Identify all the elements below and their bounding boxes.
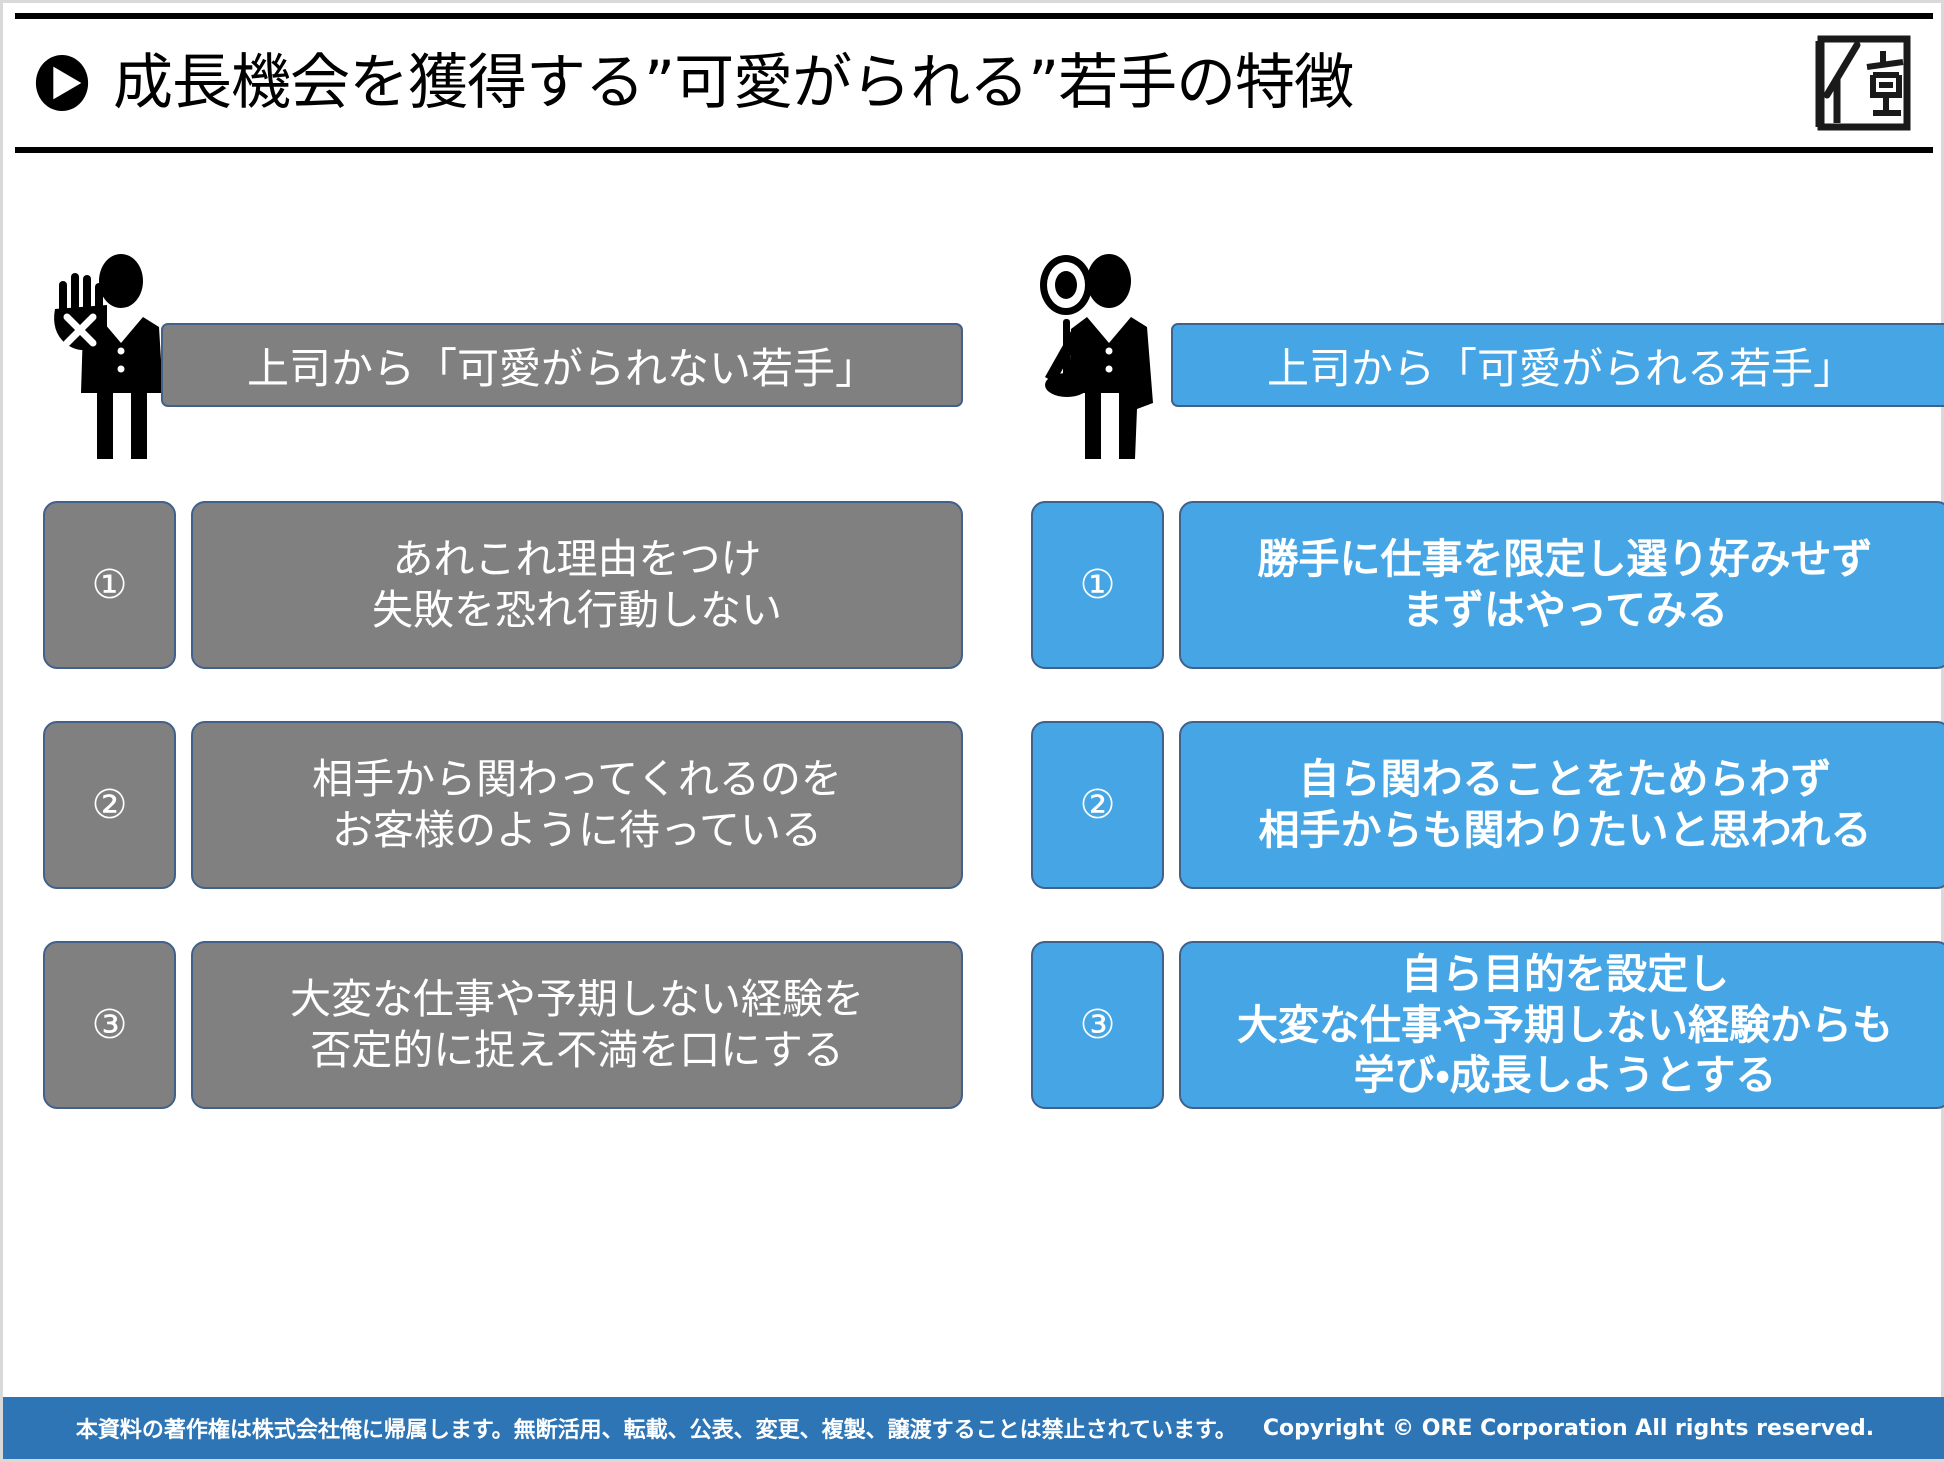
- slide-header: 成長機会を獲得する”可愛がられる”若手の特徴: [15, 13, 1933, 153]
- item-text-line: 相手から関わってくれるのを: [312, 754, 842, 805]
- person-holding-circle-sign-icon: [1031, 243, 1181, 473]
- ore-corporation-logo: [1811, 31, 1915, 135]
- slide-footer: 本資料の著作権は株式会社俺に帰属します。無断活用、転載、公表、変更、複製、譲渡す…: [3, 1397, 1944, 1459]
- item-text-line: 大変な仕事や予期しない経験を: [290, 974, 864, 1025]
- list-item: ② 自ら関わることをためらわず 相手からも関わりたいと思われる: [1031, 721, 1944, 889]
- item-text: 自ら目的を設定し 大変な仕事や予期しない経験からも 学び・成長しようとする: [1179, 941, 1944, 1109]
- item-text: 大変な仕事や予期しない経験を 否定的に捉え不満を口にする: [191, 941, 963, 1109]
- column-negative: 上司から「可愛がられない若手」 ① あれこれ理由をつけ 失敗を恐れ行動しない ②…: [43, 243, 963, 1161]
- page-title: 成長機会を獲得する”可愛がられる”若手の特徴: [113, 53, 1353, 113]
- item-text-line: お客様のように待っている: [332, 805, 822, 856]
- item-number-badge: ③: [1031, 941, 1164, 1109]
- item-text-line: 相手からも関わりたいと思われる: [1259, 805, 1872, 856]
- footer-notice: 本資料の著作権は株式会社俺に帰属します。無断活用、転載、公表、変更、複製、譲渡す…: [76, 1412, 1237, 1444]
- play-triangle-icon: [33, 54, 91, 112]
- item-text-line: 勝手に仕事を限定し選り好みせず: [1258, 534, 1873, 585]
- item-text-line: 学び・成長しようとする: [1354, 1050, 1777, 1101]
- rows-negative: ① あれこれ理由をつけ 失敗を恐れ行動しない ② 相手から関わってくれるのを お…: [43, 501, 963, 1109]
- column-header-negative: 上司から「可愛がられない若手」: [43, 243, 963, 473]
- item-text-line: まずはやってみる: [1402, 585, 1728, 636]
- list-item: ① 勝手に仕事を限定し選り好みせず まずはやってみる: [1031, 501, 1944, 669]
- item-number-badge: ①: [1031, 501, 1164, 669]
- item-number-badge: ②: [43, 721, 176, 889]
- list-item: ③ 自ら目的を設定し 大変な仕事や予期しない経験からも 学び・成長しようとする: [1031, 941, 1944, 1109]
- item-text-line: 自ら目的を設定し: [1401, 949, 1729, 1000]
- footer-copyright: Copyright © ORE Corporation All rights r…: [1263, 1416, 1874, 1441]
- item-text: 相手から関わってくれるのを お客様のように待っている: [191, 721, 963, 889]
- item-text-line: 否定的に捉え不満を口にする: [310, 1025, 843, 1076]
- column-header-positive: 上司から「可愛がられる若手」: [1031, 243, 1944, 473]
- item-text-line: 自ら関わることをためらわず: [1299, 754, 1832, 805]
- item-text-line: 失敗を恐れ行動しない: [372, 585, 782, 636]
- rows-positive: ① 勝手に仕事を限定し選り好みせず まずはやってみる ② 自ら関わることをためら…: [1031, 501, 1944, 1109]
- list-item: ① あれこれ理由をつけ 失敗を恐れ行動しない: [43, 501, 963, 669]
- item-number-badge: ①: [43, 501, 176, 669]
- banner-negative: 上司から「可愛がられない若手」: [161, 323, 963, 407]
- item-text-line: 大変な仕事や予期しない経験からも: [1237, 1000, 1893, 1051]
- banner-positive: 上司から「可愛がられる若手」: [1171, 323, 1944, 407]
- list-item: ② 相手から関わってくれるのを お客様のように待っている: [43, 721, 963, 889]
- item-text: あれこれ理由をつけ 失敗を恐れ行動しない: [191, 501, 963, 669]
- item-number-badge: ③: [43, 941, 176, 1109]
- item-number-badge: ②: [1031, 721, 1164, 889]
- column-positive: 上司から「可愛がられる若手」 ① 勝手に仕事を限定し選り好みせず まずはやってみ…: [1031, 243, 1944, 1161]
- item-text: 勝手に仕事を限定し選り好みせず まずはやってみる: [1179, 501, 1944, 669]
- item-text: 自ら関わることをためらわず 相手からも関わりたいと思われる: [1179, 721, 1944, 889]
- slide: 成長機会を獲得する”可愛がられる”若手の特徴: [0, 0, 1944, 1462]
- list-item: ③ 大変な仕事や予期しない経験を 否定的に捉え不満を口にする: [43, 941, 963, 1109]
- item-text-line: あれこれ理由をつけ: [393, 534, 762, 585]
